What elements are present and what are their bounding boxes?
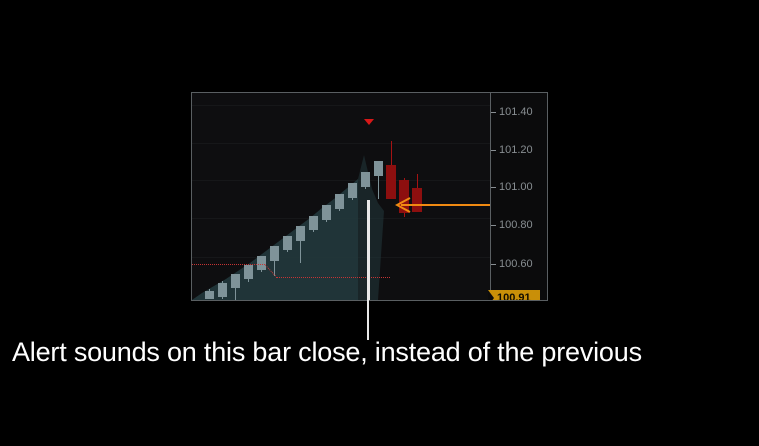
candle-body (270, 246, 279, 261)
candle-body (205, 291, 214, 299)
screenshot-root: 101.40 101.20 101.00 100.80 100.60 100.9… (0, 0, 759, 446)
annotation-arrow-head-icon (395, 197, 413, 215)
price-tick: 100.60 (491, 257, 533, 271)
candle-body (296, 226, 305, 241)
tick-dash-icon (491, 225, 496, 226)
candle-body (283, 236, 292, 250)
stop-level-line (192, 264, 265, 265)
candle-body (348, 183, 357, 198)
candle-body (374, 161, 383, 176)
stop-level-line (276, 277, 390, 278)
price-tick: 101.40 (491, 105, 533, 119)
sell-signal-triangle-icon (364, 119, 374, 125)
candle-body (244, 265, 253, 279)
candle-body (412, 188, 422, 212)
tick-dash-icon (491, 112, 496, 113)
price-tick: 100.80 (491, 218, 533, 232)
price-tick-label: 101.20 (499, 144, 533, 156)
candle-body (361, 172, 370, 187)
candle-body (335, 194, 344, 209)
tick-dash-icon (491, 187, 496, 188)
tick-dash-icon (491, 264, 496, 265)
price-tick: 101.20 (491, 143, 533, 157)
candle-body (386, 165, 396, 199)
chart-window: 101.40 101.20 101.00 100.80 100.60 100.9… (191, 92, 548, 301)
price-tick-label: 100.80 (499, 219, 533, 231)
current-price-badge[interactable]: 100.91 (488, 290, 540, 301)
candle-body (322, 205, 331, 220)
price-tick-label: 101.00 (499, 181, 533, 193)
candle-body (218, 283, 227, 297)
candle-body (309, 216, 318, 230)
price-tick-label: 101.40 (499, 106, 533, 118)
chart-plot-area[interactable] (192, 93, 490, 300)
price-tick: 101.00 (491, 180, 533, 194)
annotation-arrow-shaft (401, 204, 490, 206)
price-scale[interactable]: 101.40 101.20 101.00 100.80 100.60 (490, 93, 547, 300)
caption-text: Alert sounds on this bar close, instead … (12, 337, 747, 368)
tick-dash-icon (491, 150, 496, 151)
bar-close-marker-line (367, 200, 369, 340)
price-tick-label: 100.60 (499, 258, 533, 270)
candle-body (231, 274, 240, 288)
current-price-badge-wrap[interactable]: 100.91 (488, 290, 540, 301)
